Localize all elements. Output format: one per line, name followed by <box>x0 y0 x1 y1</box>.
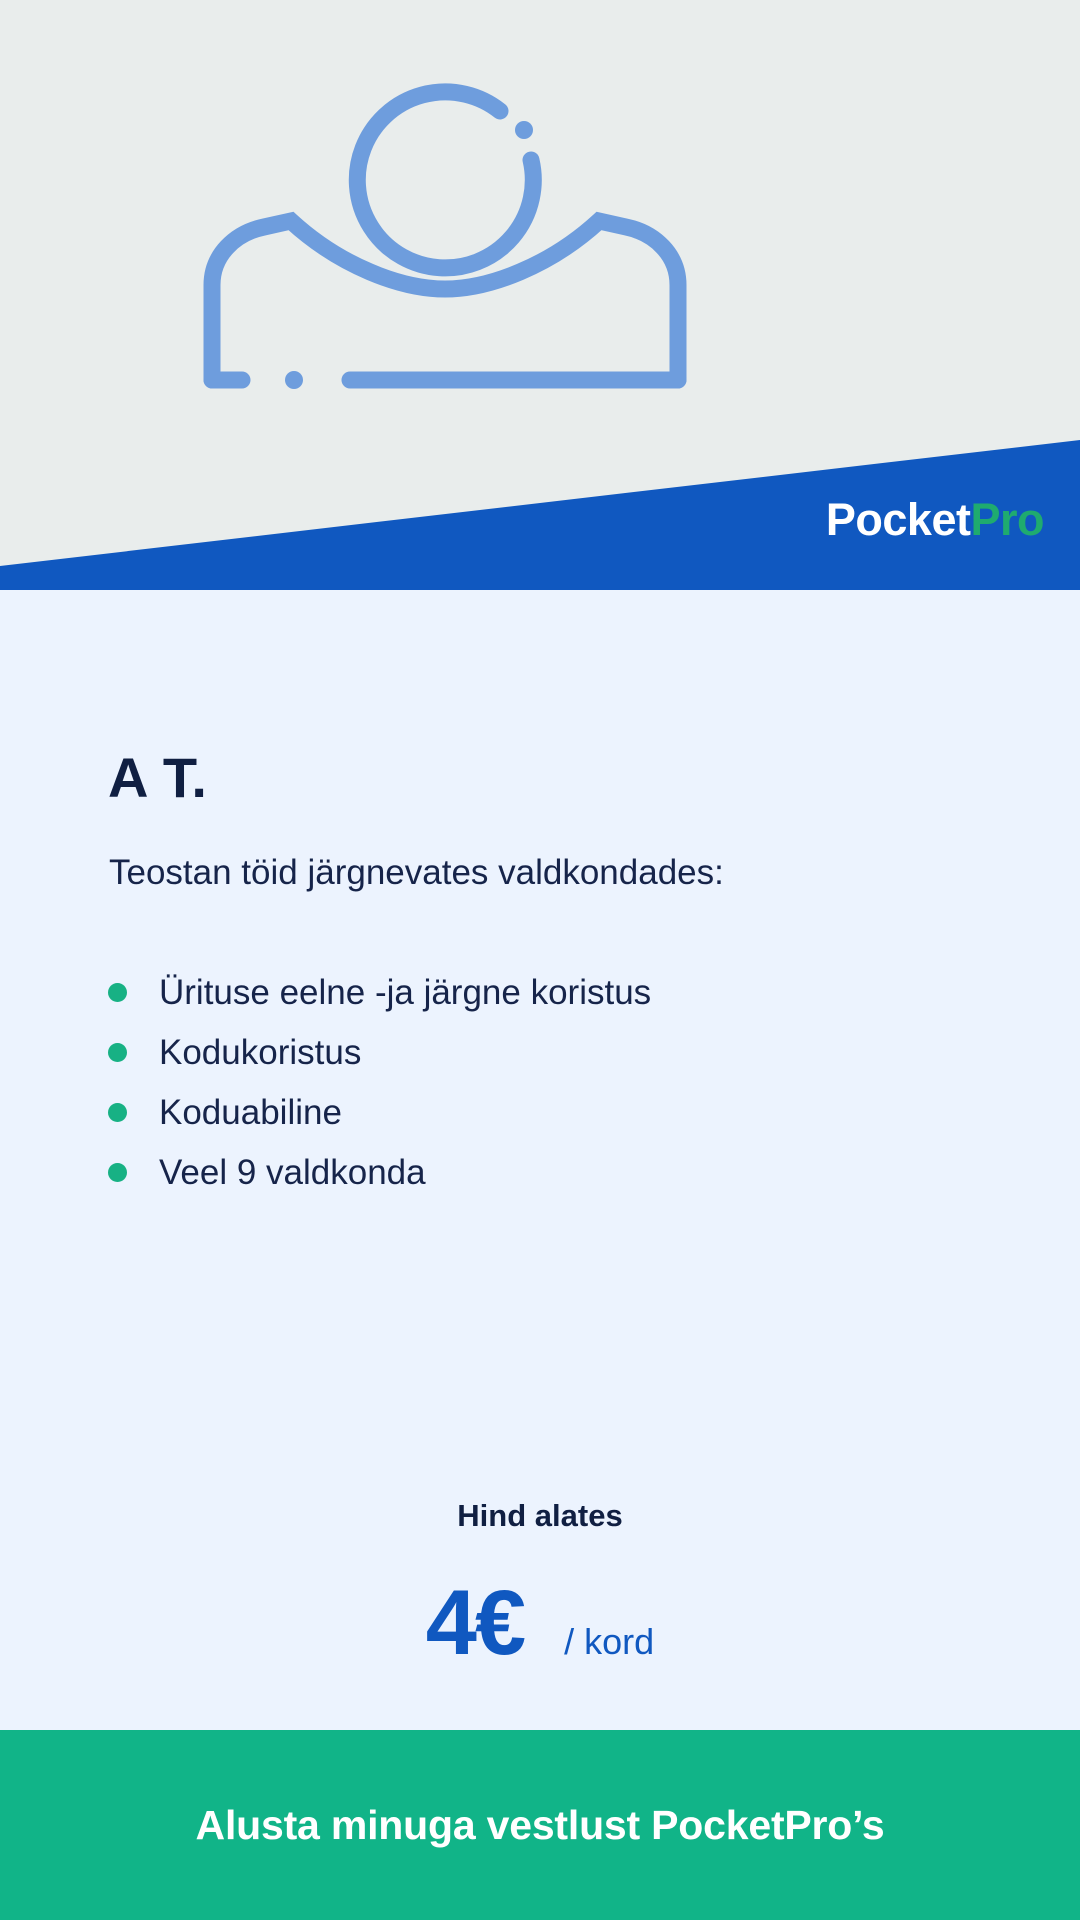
brand-logo-primary: Pocket <box>826 494 971 545</box>
service-label: Kodukoristus <box>159 1035 361 1070</box>
list-item: Ürituse eelne -ja järgne koristus <box>108 962 968 1022</box>
service-label: Ürituse eelne -ja järgne koristus <box>159 975 651 1010</box>
price-caption: Hind alates <box>0 1500 1080 1531</box>
profile-card-page: PocketPro A T. Teostan töid järgnevates … <box>0 0 1080 1920</box>
brand-logo-secondary: Pro <box>970 494 1044 545</box>
services-list: Ürituse eelne -ja järgne koristus Koduko… <box>108 962 968 1202</box>
start-chat-button[interactable]: Alusta minuga vestlust PocketPro’s <box>0 1730 1080 1920</box>
header-banner: PocketPro <box>0 0 1080 590</box>
profile-content: A T. Teostan töid järgnevates valdkondad… <box>0 590 1080 1730</box>
start-chat-button-label: Alusta minuga vestlust PocketPro’s <box>196 1805 885 1846</box>
bullet-icon <box>108 1043 127 1062</box>
price-unit: / kord <box>564 1624 654 1660</box>
bullet-icon <box>108 1163 127 1182</box>
price-row: 4€ / kord <box>0 1577 1080 1669</box>
list-item: Kodukoristus <box>108 1022 968 1082</box>
page-title: A T. <box>108 750 207 806</box>
service-label-more: Veel 9 valdkonda <box>159 1155 426 1190</box>
list-item[interactable]: Veel 9 valdkonda <box>108 1142 968 1202</box>
price-amount: 4€ <box>426 1577 524 1669</box>
bullet-icon <box>108 983 127 1002</box>
profile-subtitle: Teostan töid järgnevates valdkondades: <box>109 855 724 890</box>
price-block: Hind alates 4€ / kord <box>0 1500 1080 1669</box>
bullet-icon <box>108 1103 127 1122</box>
service-label: Koduabiline <box>159 1095 342 1130</box>
person-outline-icon <box>190 70 700 400</box>
list-item: Koduabiline <box>108 1082 968 1142</box>
brand-logo: PocketPro <box>826 497 1044 542</box>
